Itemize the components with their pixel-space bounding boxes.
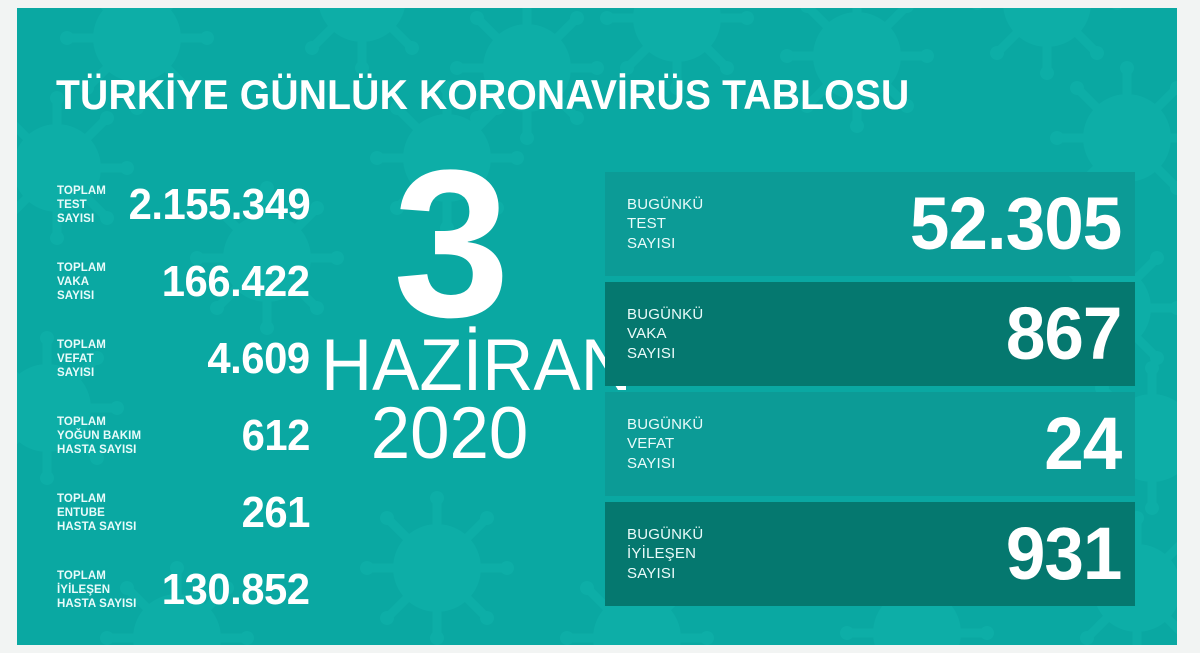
total-label-test: TOPLAM TEST SAYISI [57,183,106,225]
daily-figures-list: BUGÜNKÜ TEST SAYISI 52.305 BUGÜNKÜ VAKA … [605,172,1135,612]
daily-card-death: BUGÜNKÜ VEFAT SAYISI 24 [605,392,1135,496]
date-year: 2020 [321,399,578,468]
total-label-intubated: TOPLAM ENTUBE HASTA SAYISI [57,491,136,533]
daily-value-case: 867 [1005,297,1121,371]
total-row-recovered: TOPLAM İYİLEŞEN HASTA SAYISI 130.852 [55,551,310,628]
total-value-recovered: 130.852 [162,568,310,612]
daily-value-test: 52.305 [909,187,1121,261]
daily-label-test: BUGÜNKÜ TEST SAYISI [627,195,703,253]
total-value-case: 166.422 [162,260,310,304]
daily-card-case: BUGÜNKÜ VAKA SAYISI 867 [605,282,1135,386]
date-day: 3 [317,158,582,330]
total-value-intensive-care: 612 [242,414,310,458]
total-label-case: TOPLAM VAKA SAYISI [57,260,106,302]
daily-card-recovered: BUGÜNKÜ İYİLEŞEN SAYISI 931 [605,502,1135,606]
total-value-death: 4.609 [208,337,310,381]
daily-value-death: 24 [1044,407,1121,481]
total-value-test: 2.155.349 [128,183,310,227]
total-value-intubated: 261 [242,491,310,535]
total-row-intensive-care: TOPLAM YOĞUN BAKIM HASTA SAYISI 612 [55,397,310,474]
total-row-test: TOPLAM TEST SAYISI 2.155.349 [55,166,310,243]
daily-card-test: BUGÜNKÜ TEST SAYISI 52.305 [605,172,1135,276]
total-row-intubated: TOPLAM ENTUBE HASTA SAYISI 261 [55,474,310,551]
date-block: 3 HAZİRAN 2020 [317,158,582,469]
total-label-death: TOPLAM VEFAT SAYISI [57,337,106,379]
page-title: TÜRKİYE GÜNLÜK KORONAVİRÜS TABLOSU [56,74,909,116]
date-month: HAZİRAN [321,332,578,399]
total-label-recovered: TOPLAM İYİLEŞEN HASTA SAYISI [57,568,136,610]
daily-label-death: BUGÜNKÜ VEFAT SAYISI [627,415,703,473]
daily-value-recovered: 931 [1005,517,1121,591]
daily-label-case: BUGÜNKÜ VAKA SAYISI [627,305,703,363]
infographic-root: TÜRKİYE GÜNLÜK KORONAVİRÜS TABLOSU TOPLA… [0,0,1200,653]
total-row-death: TOPLAM VEFAT SAYISI 4.609 [55,320,310,397]
cumulative-totals-list: TOPLAM TEST SAYISI 2.155.349 TOPLAM VAKA… [55,166,310,628]
total-row-case: TOPLAM VAKA SAYISI 166.422 [55,243,310,320]
infographic-board: TÜRKİYE GÜNLÜK KORONAVİRÜS TABLOSU TOPLA… [17,8,1177,645]
total-label-intensive-care: TOPLAM YOĞUN BAKIM HASTA SAYISI [57,414,141,456]
daily-label-recovered: BUGÜNKÜ İYİLEŞEN SAYISI [627,525,703,583]
